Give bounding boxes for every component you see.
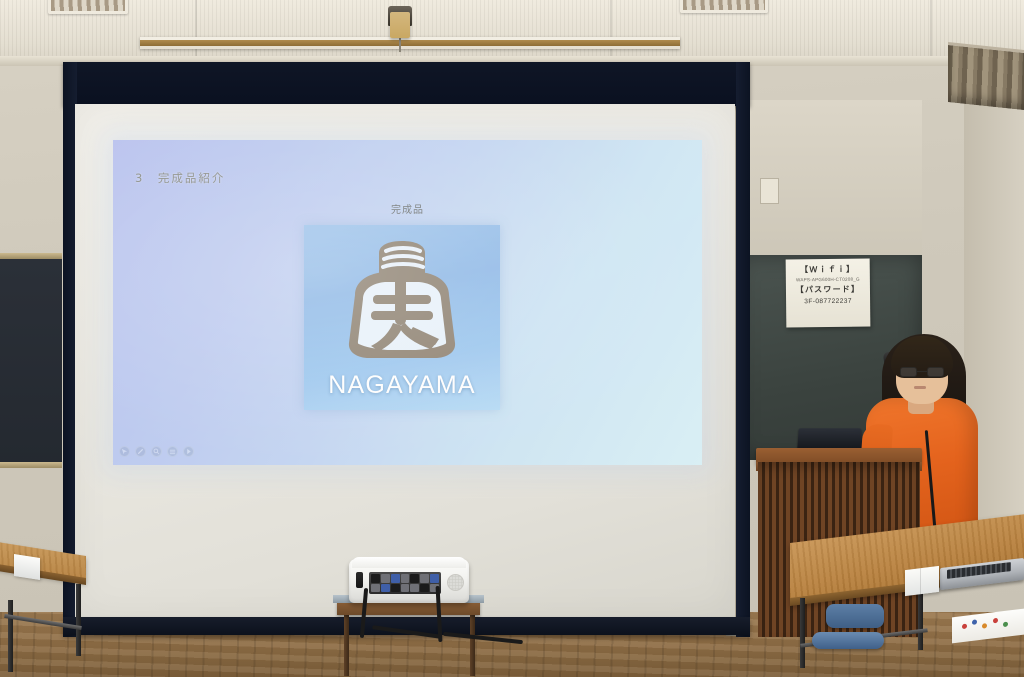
projector-speaker xyxy=(447,574,464,591)
projector-port-panel xyxy=(369,572,441,594)
wifi-sign-password-label: 【パスワード】 xyxy=(789,284,867,297)
air-vent-right xyxy=(680,0,768,13)
room-photo: 【Ｗｉｆｉ】 WAPS-APG600H-CT0208_G 【パスワード】 3F-… xyxy=(0,0,1024,677)
air-vent-left xyxy=(48,0,128,14)
ceiling xyxy=(0,0,1024,62)
slide-caption: 完成品 xyxy=(113,201,702,216)
ceiling-pendant-speaker xyxy=(390,12,410,38)
logo-wordmark: NAGAYAMA xyxy=(304,371,500,400)
menu-icon[interactable] xyxy=(167,446,178,457)
pointer-icon[interactable] xyxy=(119,446,130,457)
table-left-leg xyxy=(76,584,81,656)
table-right-leg xyxy=(800,598,805,668)
wifi-sign-heading: 【Ｗｉｆｉ】 xyxy=(789,264,867,277)
name-card-left xyxy=(14,554,40,580)
chair-seat-front xyxy=(812,632,884,649)
wifi-sign-password: 3F-087722237 xyxy=(789,296,867,309)
zoom-icon[interactable] xyxy=(151,446,162,457)
curtain-valance xyxy=(948,42,1024,110)
presenter-mouth xyxy=(914,386,926,389)
ceiling-panel-seam xyxy=(610,0,612,58)
pen-icon[interactable] xyxy=(135,446,146,457)
name-tent-card xyxy=(905,566,939,596)
screen-frame-right xyxy=(736,62,750,637)
chalkboard-left-rail-top xyxy=(0,253,62,259)
chalkboard-left xyxy=(0,258,62,466)
projector-table-leg xyxy=(344,614,349,676)
projected-slide: 3 完成品紹介 完成品 xyxy=(113,140,702,465)
slideshow-toolbar[interactable] xyxy=(114,443,199,460)
laptop-on-podium xyxy=(797,428,862,449)
projector-table-leg xyxy=(470,614,475,676)
screen-roller-housing xyxy=(63,62,750,106)
logo-box: NAGAYAMA xyxy=(304,225,500,410)
next-slide-icon[interactable] xyxy=(183,446,194,457)
wifi-info-sign: 【Ｗｉｆｉ】 WAPS-APG600H-CT0208_G 【パスワード】 3F-… xyxy=(786,259,871,328)
chair-back-front xyxy=(826,604,884,628)
ceiling-light-strip xyxy=(140,37,680,49)
nagayama-kanji-logo-icon xyxy=(327,239,477,376)
wall-notice-card xyxy=(760,178,779,204)
chalkboard-left-rail-bottom xyxy=(0,462,62,468)
slide-heading: 3 完成品紹介 xyxy=(135,170,225,186)
projector-top-cover xyxy=(352,557,466,568)
presenter-glasses-icon xyxy=(900,367,944,377)
projector-power-connector xyxy=(356,572,363,588)
ceiling-panel-seam xyxy=(930,0,932,58)
ceiling-panel-seam xyxy=(195,0,197,58)
table-left-leg xyxy=(8,600,13,672)
projector-table xyxy=(337,601,480,615)
